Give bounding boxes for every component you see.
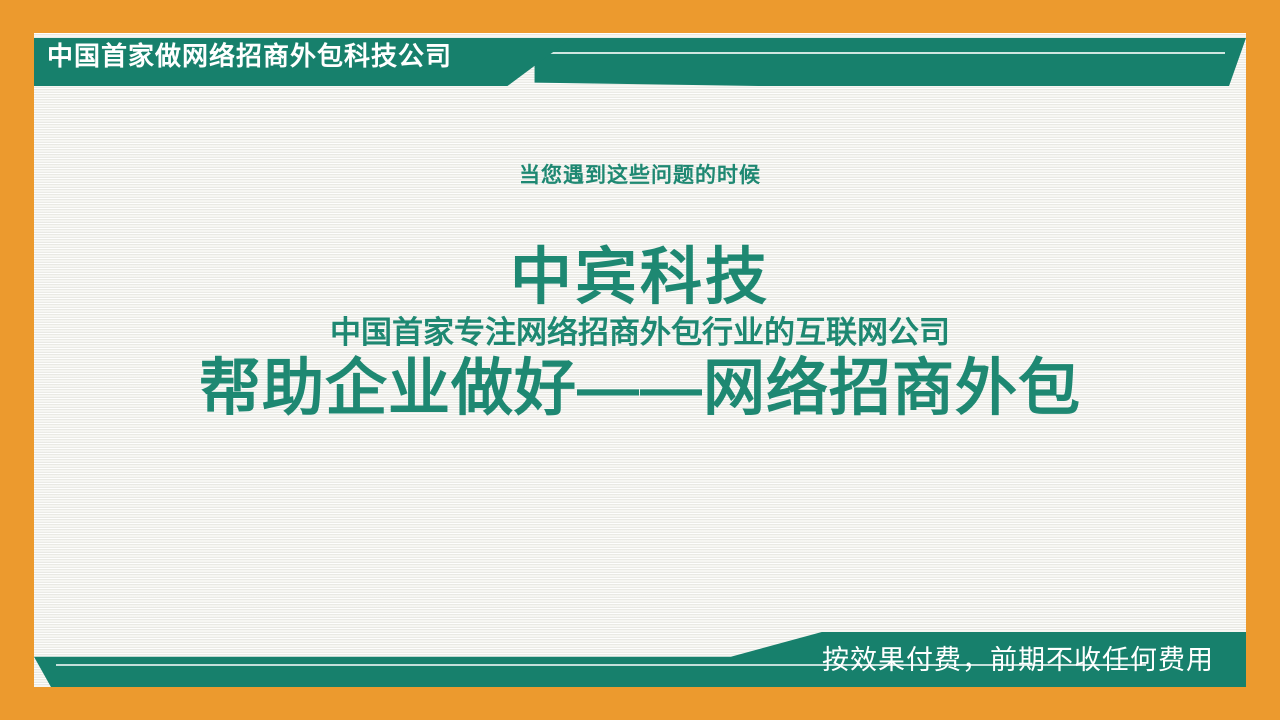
headline-text: 帮助企业做好——网络招商外包 bbox=[34, 358, 1246, 420]
kicker-text: 当您遇到这些问题的时候 bbox=[34, 165, 1246, 186]
slide-canvas: 中国首家做网络招商外包科技公司 当您遇到这些问题的时候 中宾科技 中国首家专注网… bbox=[34, 33, 1246, 687]
footer-text: 按效果付费，前期不收任何费用 bbox=[822, 647, 1214, 674]
slide-content: 当您遇到这些问题的时候 中宾科技 中国首家专注网络招商外包行业的互联网公司 帮助… bbox=[34, 33, 1246, 687]
brand-name: 中宾科技 bbox=[34, 247, 1246, 309]
tagline-text: 中国首家专注网络招商外包行业的互联网公司 bbox=[34, 317, 1246, 348]
presentation-slide: 中国首家做网络招商外包科技公司 当您遇到这些问题的时候 中宾科技 中国首家专注网… bbox=[0, 0, 1280, 720]
